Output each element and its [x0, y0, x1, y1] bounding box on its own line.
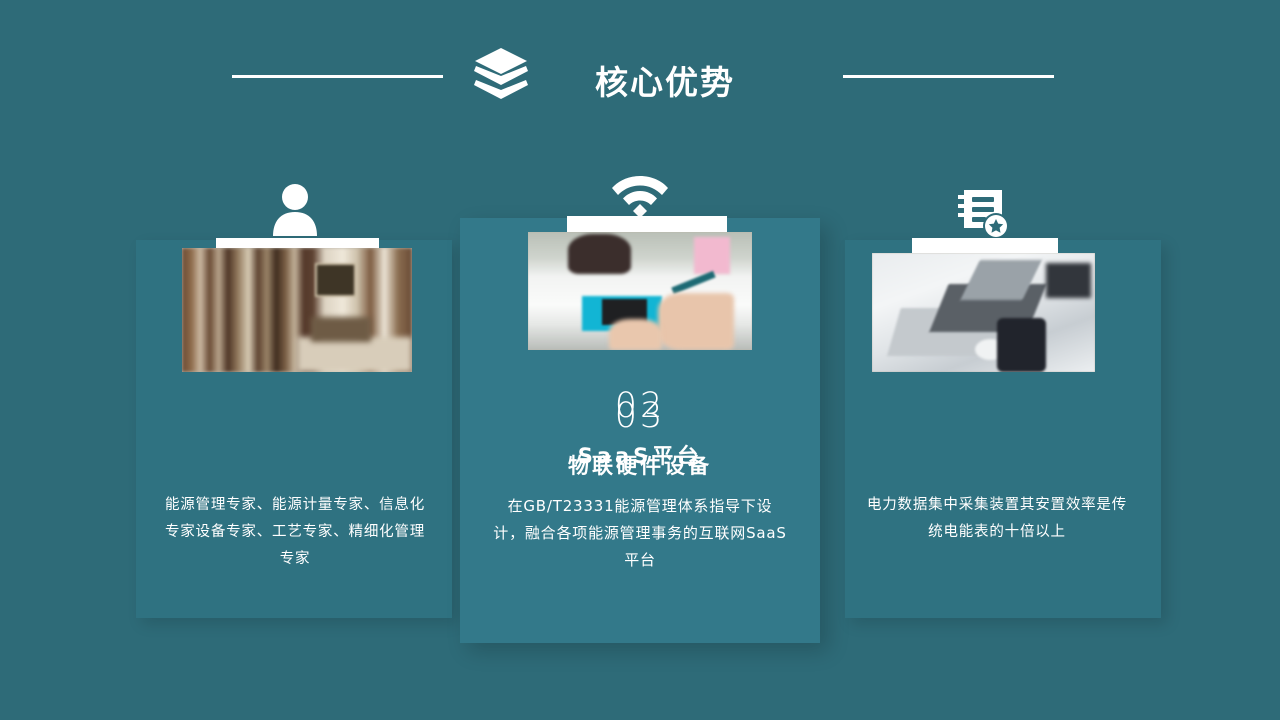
- slide-root: 核心优势: [0, 0, 1280, 720]
- certificate-star-icon: [958, 188, 1010, 240]
- office-meeting-tablet-photo: [528, 232, 752, 350]
- laptop-desk-coffee-photo: [872, 253, 1095, 372]
- card-2-description: 在GB/T23331能源管理体系指导下设计，融合各项能源管理事务的互联网SaaS…: [492, 493, 788, 574]
- page-title: 核心优势: [595, 56, 735, 104]
- card-3-description: 电力数据集中采集装置其安置效率是传统电能表的十倍以上: [862, 492, 1132, 546]
- card-3-number: 03: [0, 396, 1280, 436]
- card-1-description: 能源管理专家、能源计量专家、信息化专家设备专家、工艺专家、精细化管理专家: [160, 492, 430, 573]
- wifi-icon: [612, 172, 668, 218]
- library-bookshelves-photo: [182, 248, 412, 372]
- slide-header: 核心优势: [0, 44, 1280, 114]
- header-rule-right: [843, 75, 1054, 78]
- header-rule-left: [232, 75, 443, 78]
- person-icon: [267, 182, 323, 238]
- layers-stack-icon: [472, 46, 530, 108]
- card-3-title: 物联硬件设备: [0, 450, 1280, 480]
